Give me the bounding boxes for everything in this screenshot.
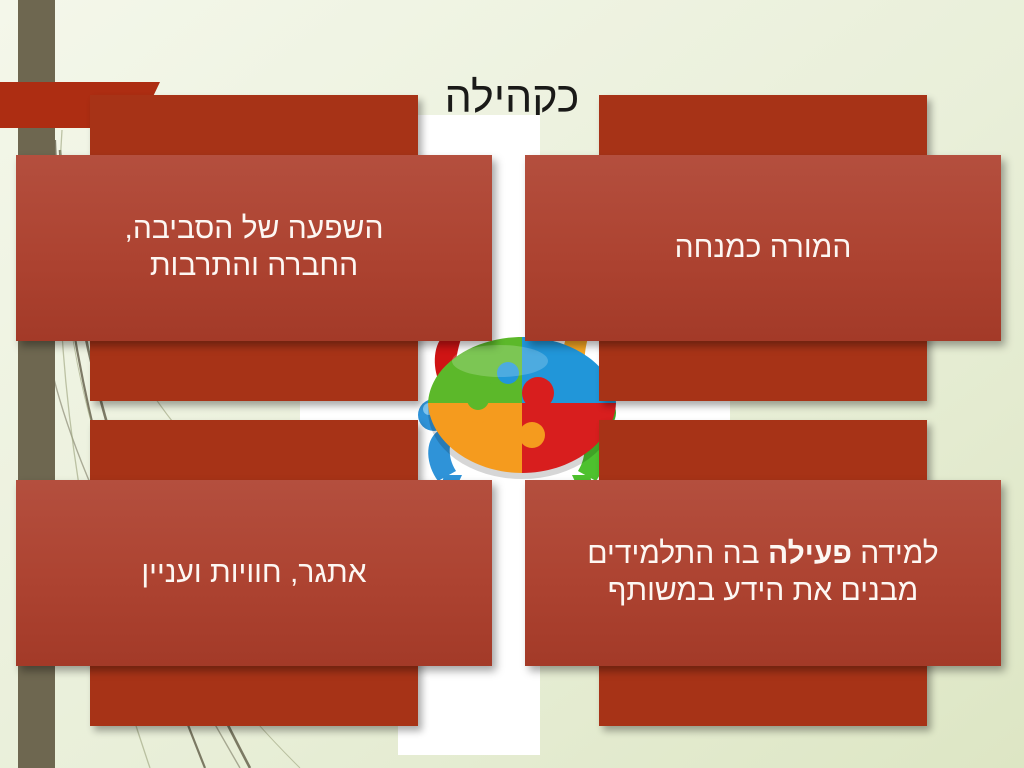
callout-line-2: החברה והתרבות — [150, 249, 358, 282]
callout-line-1-prefix: למידה — [852, 537, 939, 570]
callout-line-1: השפעה של הסביבה, — [125, 212, 384, 245]
callout-line-1: המורה כמנחה — [675, 231, 852, 264]
callout-horizontal-block: המורה כמנחה — [525, 155, 1001, 341]
callout-top-left-text: השפעה של הסביבה, החברה והתרבות — [111, 211, 398, 284]
callout-horizontal-block: למידה פעילה בה התלמידים מבנים את הידע במ… — [525, 480, 1001, 666]
callout-bottom-left-text: אתגר, חוויות ועניין — [127, 555, 380, 592]
callout-top-left[interactable]: השפעה של הסביבה, החברה והתרבות — [0, 95, 502, 405]
callout-line-1-bold: פעילה — [768, 537, 852, 570]
callout-top-right[interactable]: המורה כמנחה — [498, 95, 1008, 405]
callout-line-2: מבנים את הידע במשותף — [608, 574, 919, 607]
callout-top-right-text: המורה כמנחה — [661, 230, 866, 267]
callout-line-1-suffix: בה התלמידים — [587, 537, 768, 570]
presentation-slide: כקהילה — [0, 0, 1024, 768]
callout-line-1: אתגר, חוויות ועניין — [141, 556, 366, 589]
callout-horizontal-block: אתגר, חוויות ועניין — [16, 480, 492, 666]
callout-bottom-right[interactable]: למידה פעילה בה התלמידים מבנים את הידע במ… — [498, 420, 1008, 730]
callout-bottom-left[interactable]: אתגר, חוויות ועניין — [0, 420, 502, 730]
callout-horizontal-block: השפעה של הסביבה, החברה והתרבות — [16, 155, 492, 341]
callout-bottom-right-text: למידה פעילה בה התלמידים מבנים את הידע במ… — [573, 536, 952, 609]
